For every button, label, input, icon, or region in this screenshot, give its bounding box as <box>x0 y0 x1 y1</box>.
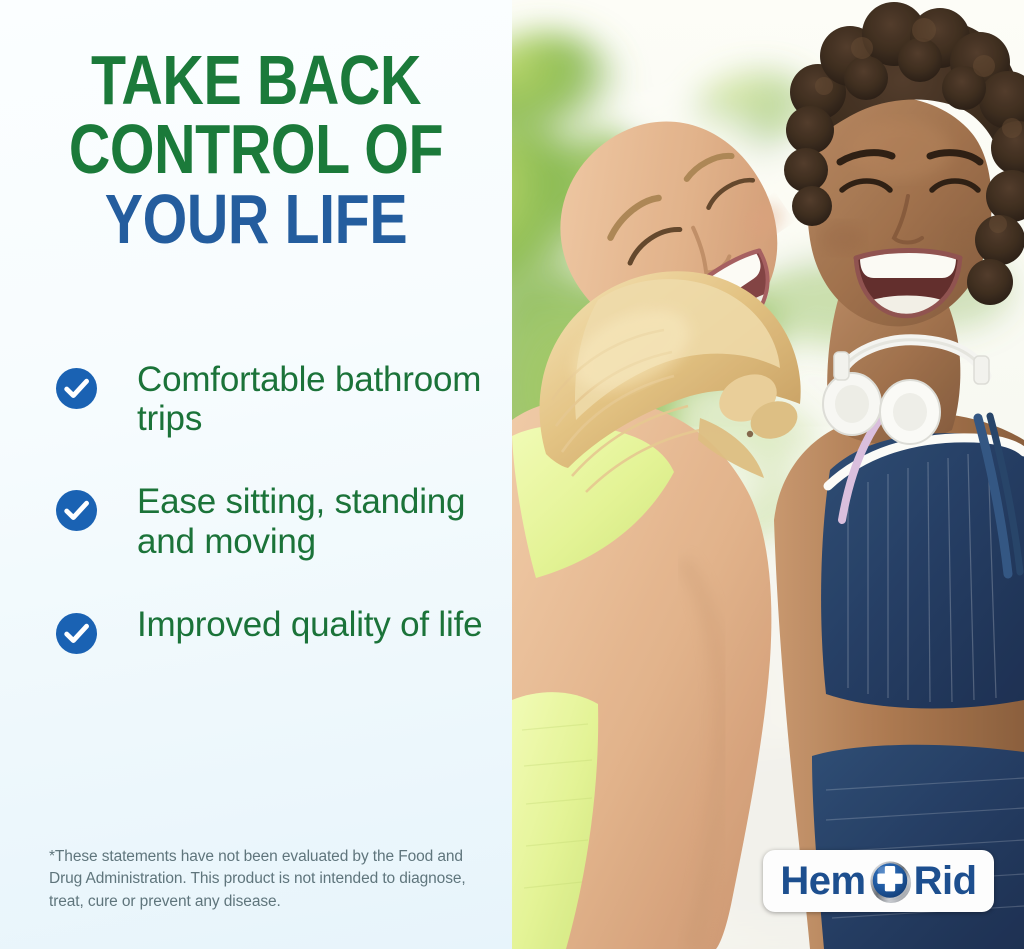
benefit-label: Improved quality of life <box>137 605 482 644</box>
check-circle-icon <box>56 368 97 409</box>
advertisement-banner: TAKE BACK CONTROL OF YOUR LIFE Comfortab… <box>0 0 1024 949</box>
headline-line-2: CONTROL OF <box>46 115 466 184</box>
page-title: TAKE BACK CONTROL OF YOUR LIFE <box>46 46 466 254</box>
medical-cross-medallion-icon <box>867 858 913 904</box>
left-content-panel: TAKE BACK CONTROL OF YOUR LIFE Comfortab… <box>0 0 512 949</box>
benefits-list: Comfortable bathroom trips Ease sitting,… <box>56 360 496 698</box>
logo-text-hem: Hem <box>780 861 865 901</box>
headline-line-1: TAKE BACK <box>46 46 466 115</box>
lifestyle-photo <box>512 0 1024 949</box>
list-item: Improved quality of life <box>56 605 496 654</box>
benefit-label: Comfortable bathroom trips <box>137 360 487 438</box>
hemrid-logo-badge[interactable]: Hem <box>763 850 994 912</box>
logo-lockup: Hem <box>780 850 976 912</box>
benefit-label: Ease sitting, standing and moving <box>137 482 487 560</box>
logo-text-rid: Rid <box>914 861 977 901</box>
list-item: Comfortable bathroom trips <box>56 360 496 438</box>
check-circle-icon <box>56 613 97 654</box>
headline-line-3: YOUR LIFE <box>46 185 466 254</box>
fda-disclaimer: *These statements have not been evaluate… <box>49 846 481 913</box>
list-item: Ease sitting, standing and moving <box>56 482 496 560</box>
check-circle-icon <box>56 490 97 531</box>
